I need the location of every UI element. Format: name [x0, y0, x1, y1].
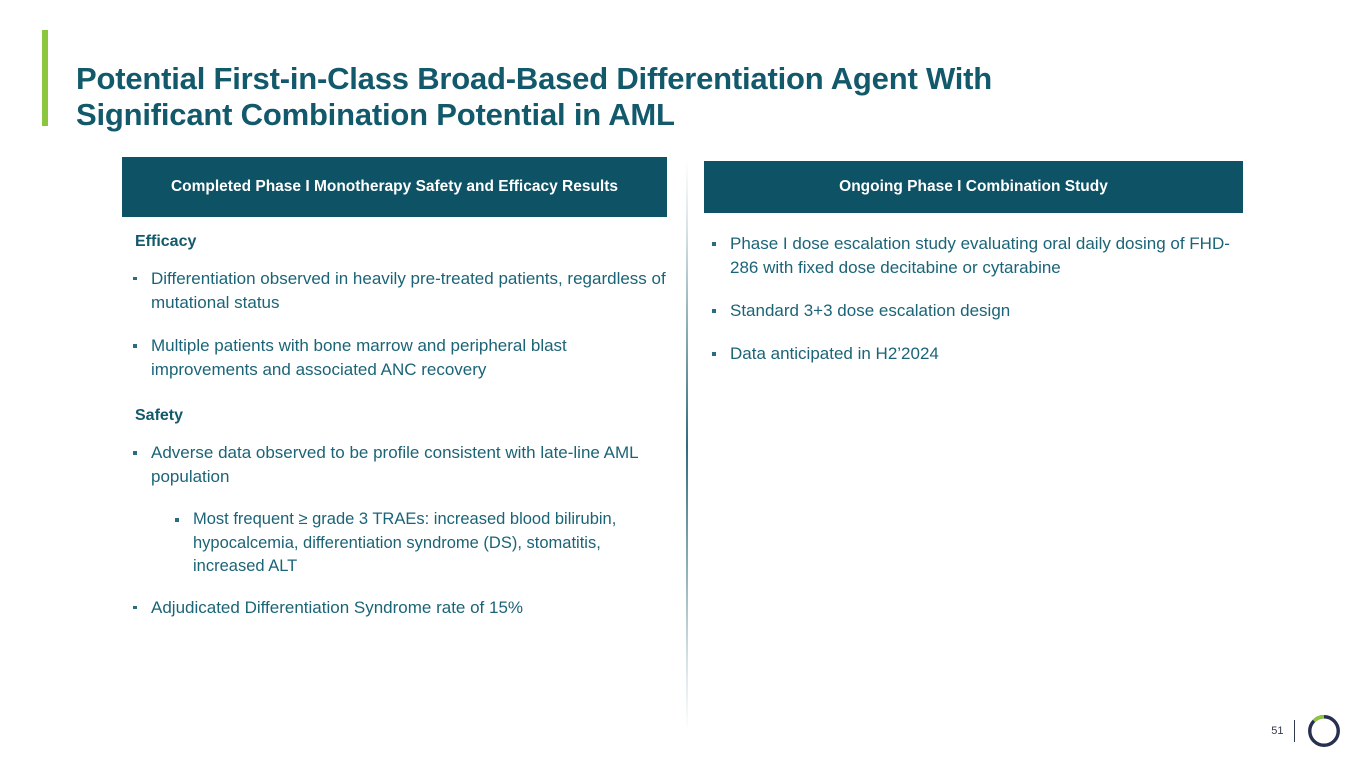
bullet-dot-icon [133, 277, 137, 281]
bullet-dot-icon [712, 352, 716, 356]
list-item-label: Data anticipated in H2’2024 [730, 344, 939, 363]
footer-divider [1294, 720, 1296, 742]
list-item: Adjudicated Differentiation Syndrome rat… [128, 596, 673, 620]
list-item: Standard 3+3 dose escalation design [707, 299, 1247, 323]
page-title-line-2: Significant Combination Potential in AML [76, 97, 1176, 134]
left-column-body: Efficacy Differentiation observed in hea… [128, 232, 673, 620]
list-item: Differentiation observed in heavily pre-… [128, 267, 673, 315]
right-column-body: Phase I dose escalation study evaluating… [707, 232, 1247, 367]
list-item-label: Adjudicated Differentiation Syndrome rat… [151, 598, 523, 617]
right-column-header: Ongoing Phase I Combination Study [704, 161, 1243, 213]
bullet-dot-icon [712, 242, 716, 246]
list-item-label: Phase I dose escalation study evaluating… [730, 234, 1230, 277]
list-item-label: Standard 3+3 dose escalation design [730, 301, 1010, 320]
page-number: 51 [1271, 726, 1283, 737]
list-item: Phase I dose escalation study evaluating… [707, 232, 1247, 280]
list-item: Multiple patients with bone marrow and p… [128, 334, 673, 382]
title-accent-bar [42, 30, 48, 126]
slide: Potential First-in-Class Broad-Based Dif… [0, 0, 1365, 768]
section-heading-safety: Safety [135, 406, 673, 427]
left-column-header: Completed Phase I Monotherapy Safety and… [122, 157, 667, 217]
list-item-label: Multiple patients with bone marrow and p… [151, 336, 567, 379]
sub-list-item-label: Most frequent ≥ grade 3 TRAEs: increased… [193, 510, 616, 575]
slide-footer: 51 [1271, 712, 1343, 750]
bullet-dot-icon [133, 344, 137, 348]
list-item: Adverse data observed to be profile cons… [128, 441, 673, 489]
section-heading-efficacy: Efficacy [135, 232, 673, 253]
list-item-label: Adverse data observed to be profile cons… [151, 443, 638, 486]
bullet-dot-icon [133, 451, 137, 455]
page-title: Potential First-in-Class Broad-Based Dif… [76, 61, 1176, 134]
page-title-line-1: Potential First-in-Class Broad-Based Dif… [76, 61, 1176, 98]
bullet-dot-icon [175, 518, 179, 522]
sub-list-item: Most frequent ≥ grade 3 TRAEs: increased… [169, 508, 673, 578]
column-divider [686, 160, 688, 732]
list-item: Data anticipated in H2’2024 [707, 342, 1247, 366]
ring-logo-icon [1305, 712, 1343, 750]
list-item-label: Differentiation observed in heavily pre-… [151, 269, 666, 312]
bullet-dot-icon [133, 606, 137, 610]
bullet-dot-icon [712, 309, 716, 313]
